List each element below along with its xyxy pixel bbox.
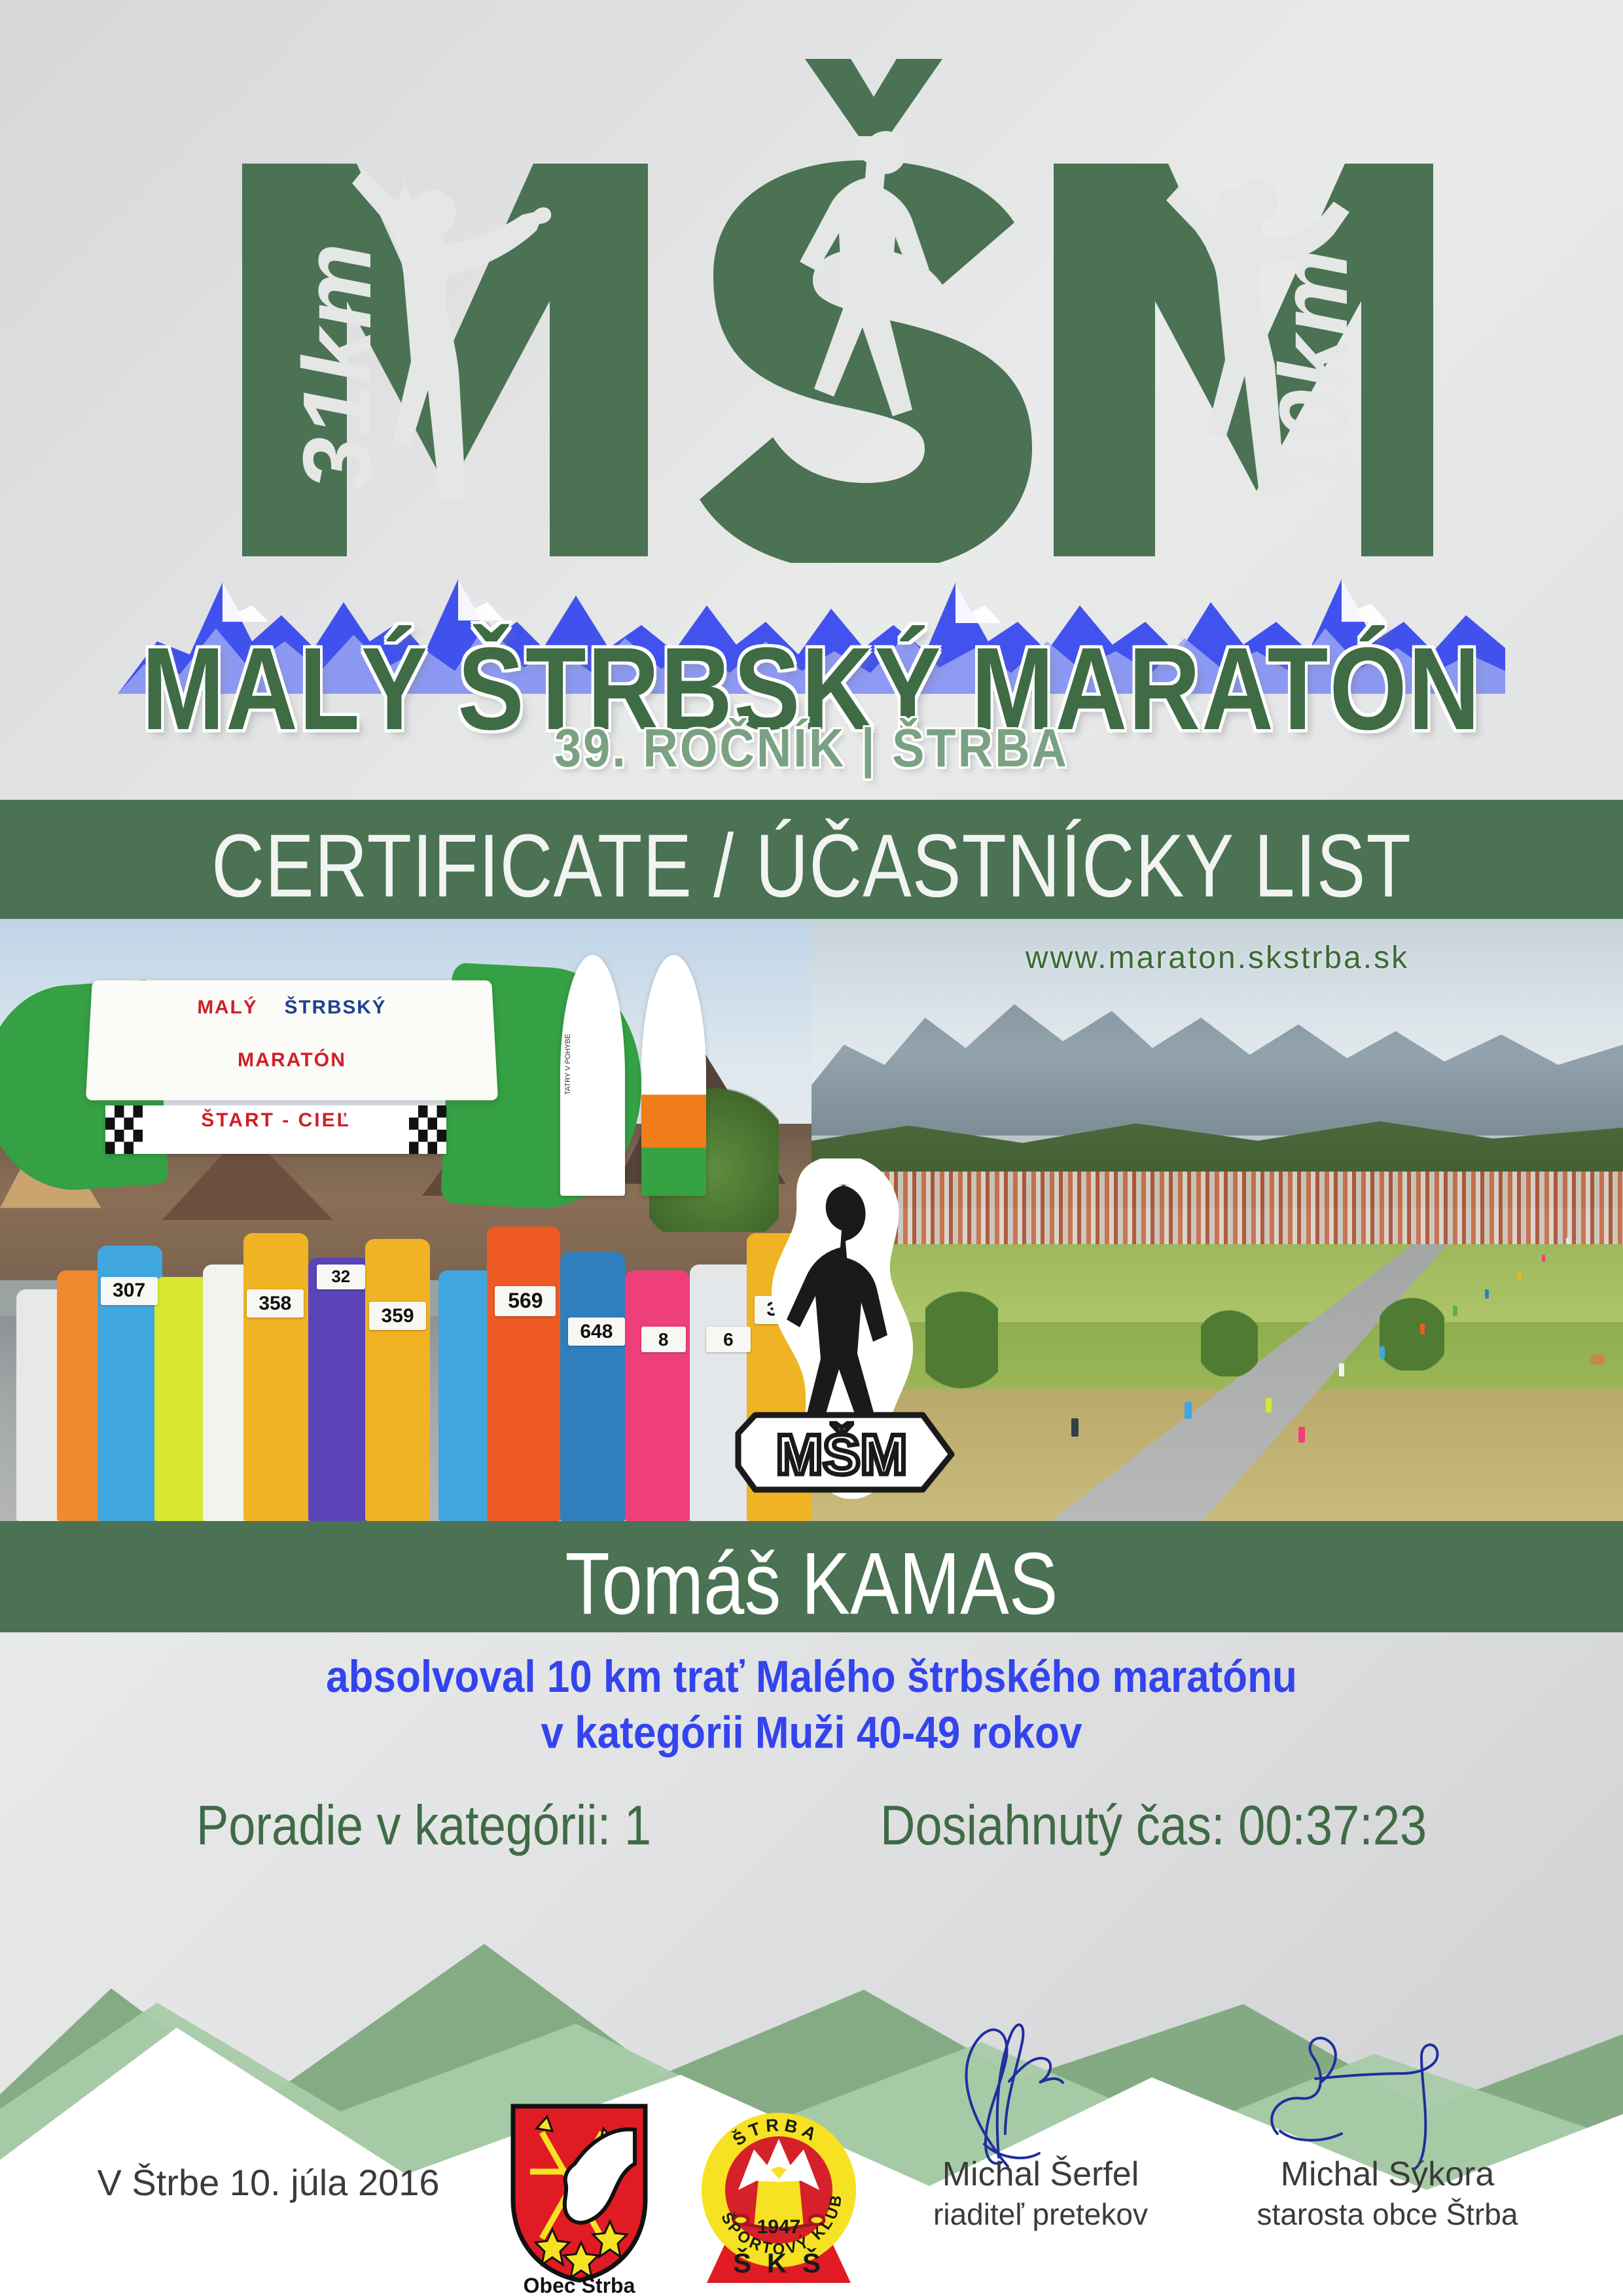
bib-number: 359 xyxy=(369,1302,426,1330)
signatory-role: starosta obce Štrba xyxy=(1217,2197,1558,2232)
tree xyxy=(1380,1292,1444,1371)
beach-flag-label: TATRY V POHYBE xyxy=(564,1033,572,1094)
signatory-role: riaditeľ pretekov xyxy=(870,2197,1211,2232)
start-finish-banner: ŠTART - CIEĽ xyxy=(105,1105,446,1154)
runner xyxy=(308,1258,373,1521)
category-rank: Poradie v kategórii: 1 xyxy=(196,1793,651,1857)
participant-description: absolvoval 10 km trať Malého štrbského m… xyxy=(0,1649,1623,1761)
arch-banner-line1: MALÝ ŠTRBSKÝ xyxy=(90,997,494,1018)
bib-number: 358 xyxy=(247,1289,304,1318)
runner xyxy=(560,1252,625,1521)
tree xyxy=(1201,1304,1258,1376)
participant-name: Tomáš KAMAS xyxy=(0,1533,1623,1634)
signature-block-race-director: Michal Šerfel riaditeľ pretekov xyxy=(870,2081,1211,2296)
signature-block-mayor: Michal Sýkora starosta obce Štrba xyxy=(1217,2081,1558,2296)
runner xyxy=(243,1233,308,1521)
signatory-name: Michal Šerfel xyxy=(870,2155,1211,2194)
arch-banner-line2: MARATÓN xyxy=(88,1049,497,1071)
runner-dot xyxy=(1566,1238,1569,1244)
finish-time-value: 00:37:23 xyxy=(1238,1794,1427,1856)
runner-dot xyxy=(1380,1346,1385,1359)
msm-runner-sticker-icon: MŠM xyxy=(726,1158,962,1499)
finish-time-label: Dosiahnutý čas: xyxy=(880,1794,1225,1856)
msm-logo: 31km 10km xyxy=(216,39,1433,563)
spectator-dot xyxy=(1185,1402,1192,1419)
runner-dot xyxy=(1453,1306,1457,1316)
crest-label: Obec Štrba xyxy=(504,2274,654,2296)
beach-flag-sks xyxy=(641,955,706,1196)
participant-name-band: Tomáš KAMAS xyxy=(0,1521,1623,1632)
runner-crowd: 307 358 32 359 569 648 8 6 360 xyxy=(0,1208,811,1521)
website-url: www.maraton.skstrba.sk xyxy=(811,940,1623,976)
bib-number: 32 xyxy=(317,1265,365,1289)
runner xyxy=(625,1270,690,1521)
results-row: Poradie v kategórii: 1 Dosiahnutý čas: 0… xyxy=(0,1793,1623,1857)
badge-year: 1947 xyxy=(757,2216,801,2238)
category-rank-label: Poradie v kategórii: xyxy=(196,1794,611,1856)
bib-number: 648 xyxy=(568,1318,625,1346)
bib-number: 307 xyxy=(101,1277,158,1305)
category-rank-value: 1 xyxy=(624,1794,651,1856)
description-line-1: absolvoval 10 km trať Malého štrbského m… xyxy=(0,1649,1623,1705)
runner-dot xyxy=(1420,1323,1425,1335)
runner-dot xyxy=(1542,1255,1545,1262)
distance-left-label: 31km xyxy=(283,243,391,491)
runner-dot xyxy=(1518,1272,1522,1280)
obec-strba-crest-icon xyxy=(504,2101,654,2284)
distance-right-label: 10km xyxy=(1260,249,1368,497)
cow xyxy=(1590,1354,1605,1365)
signature-icon xyxy=(1217,2003,1558,2173)
event-edition: 39. ROČNÍK | ŠTRBA xyxy=(0,717,1623,779)
msm-wordmark-icon: 31km 10km xyxy=(216,39,1433,563)
description-line-2: v kategórii Muži 40-49 rokov xyxy=(0,1705,1623,1761)
runner-dot xyxy=(1266,1398,1272,1412)
photo-race-start: MALÝ ŠTRBSKÝ MARATÓN ŠTART - CIEĽ TATRY … xyxy=(0,919,811,1521)
start-finish-text: ŠTART - CIEĽ xyxy=(105,1109,446,1132)
arch-word-maly: MALÝ xyxy=(197,997,258,1018)
bib-number: 569 xyxy=(495,1286,556,1316)
runner xyxy=(487,1227,560,1521)
beach-flag-tatry: TATRY V POHYBE xyxy=(560,955,625,1196)
sks-club-badge-icon: ŠTRBA ŠPORTOVÝ KLUB 1947 Š K Š xyxy=(694,2098,864,2288)
signatory-name: Michal Sýkora xyxy=(1217,2155,1558,2194)
runner-dot xyxy=(1339,1363,1344,1376)
finish-time: Dosiahnutý čas: 00:37:23 xyxy=(880,1793,1427,1857)
runner-dot xyxy=(1298,1427,1305,1443)
issue-date-place: V Štrbe 10. júla 2016 xyxy=(65,2161,471,2204)
signature-icon xyxy=(870,2003,1211,2173)
arch-word-strbsky: ŠTRBSKÝ xyxy=(285,997,387,1018)
spectator-dot xyxy=(1071,1418,1079,1437)
certificate-title-band: CERTIFICATE / ÚČASTNÍCKY LIST xyxy=(0,800,1623,919)
certificate-title: CERTIFICATE / ÚČASTNÍCKY LIST xyxy=(0,814,1623,917)
runner xyxy=(365,1239,430,1521)
header-logo-block: 31km 10km MALÝ ŠTRBSKÝ MARATÓN 39. ROČNÍ… xyxy=(0,0,1623,797)
badge-bottom-text: Š K Š xyxy=(733,2247,825,2278)
arch-banner: MALÝ ŠTRBSKÝ MARATÓN xyxy=(86,980,498,1100)
certificate-page: 31km 10km MALÝ ŠTRBSKÝ MARATÓN 39. ROČNÍ… xyxy=(0,0,1623,2296)
bib-number: 8 xyxy=(641,1327,686,1352)
footer: V Štrbe 10. júla 2016 Obec Štrba xyxy=(0,2081,1623,2296)
sticker-msm-text: MŠM xyxy=(776,1424,908,1486)
runner-dot xyxy=(1485,1289,1489,1299)
